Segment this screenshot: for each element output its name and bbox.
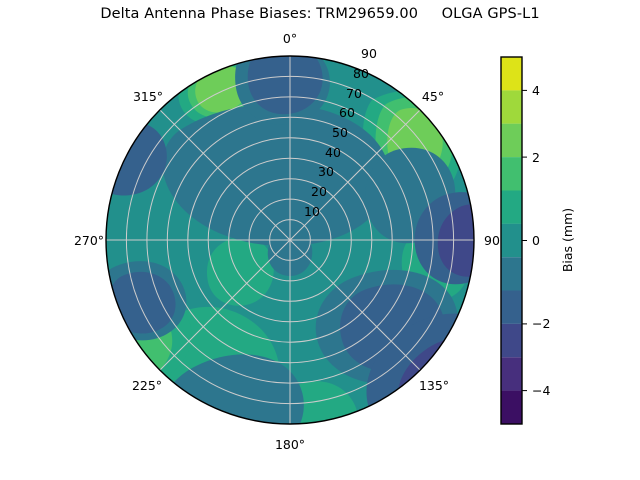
colorbar-bands: [501, 57, 522, 424]
colorbar-axis-label: Bias (mm): [560, 208, 575, 272]
figure-canvas: Delta Antenna Phase Biases: TRM29659.00 …: [0, 0, 640, 480]
colorbar-band-5: [501, 224, 522, 257]
colorbar-band-4: [501, 257, 522, 290]
colorbar-band-8: [501, 124, 522, 157]
colorbar-tick-label-0: 0: [532, 233, 540, 248]
colorbar-band-1: [501, 357, 522, 390]
colorbar-tick-label-4: 4: [532, 83, 540, 98]
colorbar-band-10: [501, 57, 522, 90]
colorbar[interactable]: 4 2 0 −2 −4 Bias (mm): [0, 0, 640, 480]
colorbar-tick-label-2: 2: [532, 150, 540, 165]
colorbar-tick-labels: 4 2 0 −2 −4: [532, 83, 550, 398]
colorbar-tick-label-neg4: −4: [532, 383, 550, 398]
colorbar-band-2: [501, 324, 522, 357]
colorbar-band-0: [501, 391, 522, 424]
colorbar-band-3: [501, 291, 522, 324]
colorbar-tick-label-neg2: −2: [532, 316, 550, 331]
colorbar-band-7: [501, 157, 522, 190]
colorbar-band-9: [501, 90, 522, 123]
colorbar-band-6: [501, 191, 522, 224]
colorbar-ticks: [522, 90, 527, 390]
